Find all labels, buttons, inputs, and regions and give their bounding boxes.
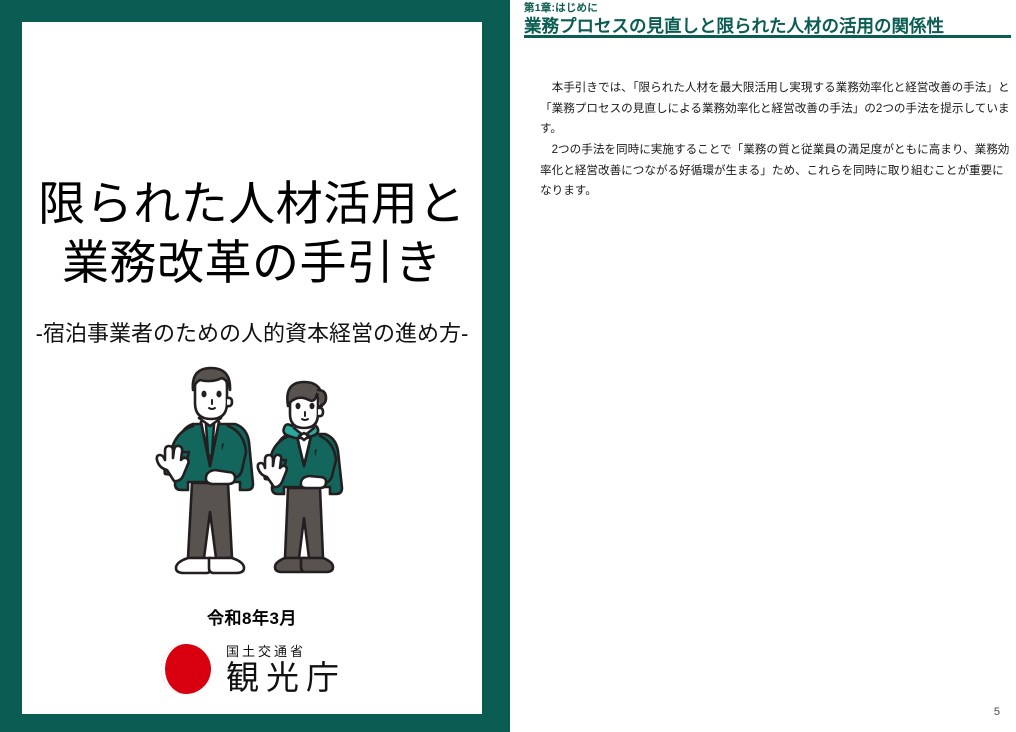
body-paragraph: 2つの手法を同時に実施することで「業務の質と従業員の満足度がともに高まり、業務効… [540,140,1014,202]
page-number: 5 [994,706,1000,718]
japan-sun-logo-icon [158,641,214,697]
cover-subtitle: -宿泊事業者のための人的資本経営の進め方- [36,316,469,348]
document-spread: 限られた人材活用と 業務改革の手引き -宿泊事業者のための人的資本経営の進め方- [0,0,1016,732]
header-divider [524,35,1011,38]
logo-text: 国土交通省 観光庁 [226,645,346,694]
cover-date: 令和8年3月 [207,604,297,629]
page-title: 業務プロセスの見直しと限られた人材の活用の関係性 [524,16,1008,37]
cover-title: 限られた人材活用と 業務改革の手引き [38,174,466,292]
jta-logo: 国土交通省 観光庁 [158,641,346,697]
content-page: 第1章:はじめに 業務プロセスの見直しと限られた人材の活用の関係性 本手引きでは… [510,0,1016,732]
logo-agency-name: 観光庁 [226,661,346,694]
body-paragraph: 本手引きでは、「限られた人材を最大限活用し実現する業務効率化と経営改善の手法」と… [540,78,1014,140]
cover-page: 限られた人材活用と 業務改革の手引き -宿泊事業者のための人的資本経営の進め方- [0,0,510,732]
body-copy: 本手引きでは、「限られた人材を最大限活用し実現する業務効率化と経営改善の手法」と… [540,78,1014,202]
hotel-staff-illustration [127,362,377,594]
page-header: 第1章:はじめに 業務プロセスの見直しと限られた人材の活用の関係性 [524,2,1008,37]
cover-inner-frame: 限られた人材活用と 業務改革の手引き -宿泊事業者のための人的資本経営の進め方- [22,22,482,714]
chapter-label: 第1章:はじめに [524,2,1008,14]
logo-ministry-name: 国土交通省 [226,645,346,658]
